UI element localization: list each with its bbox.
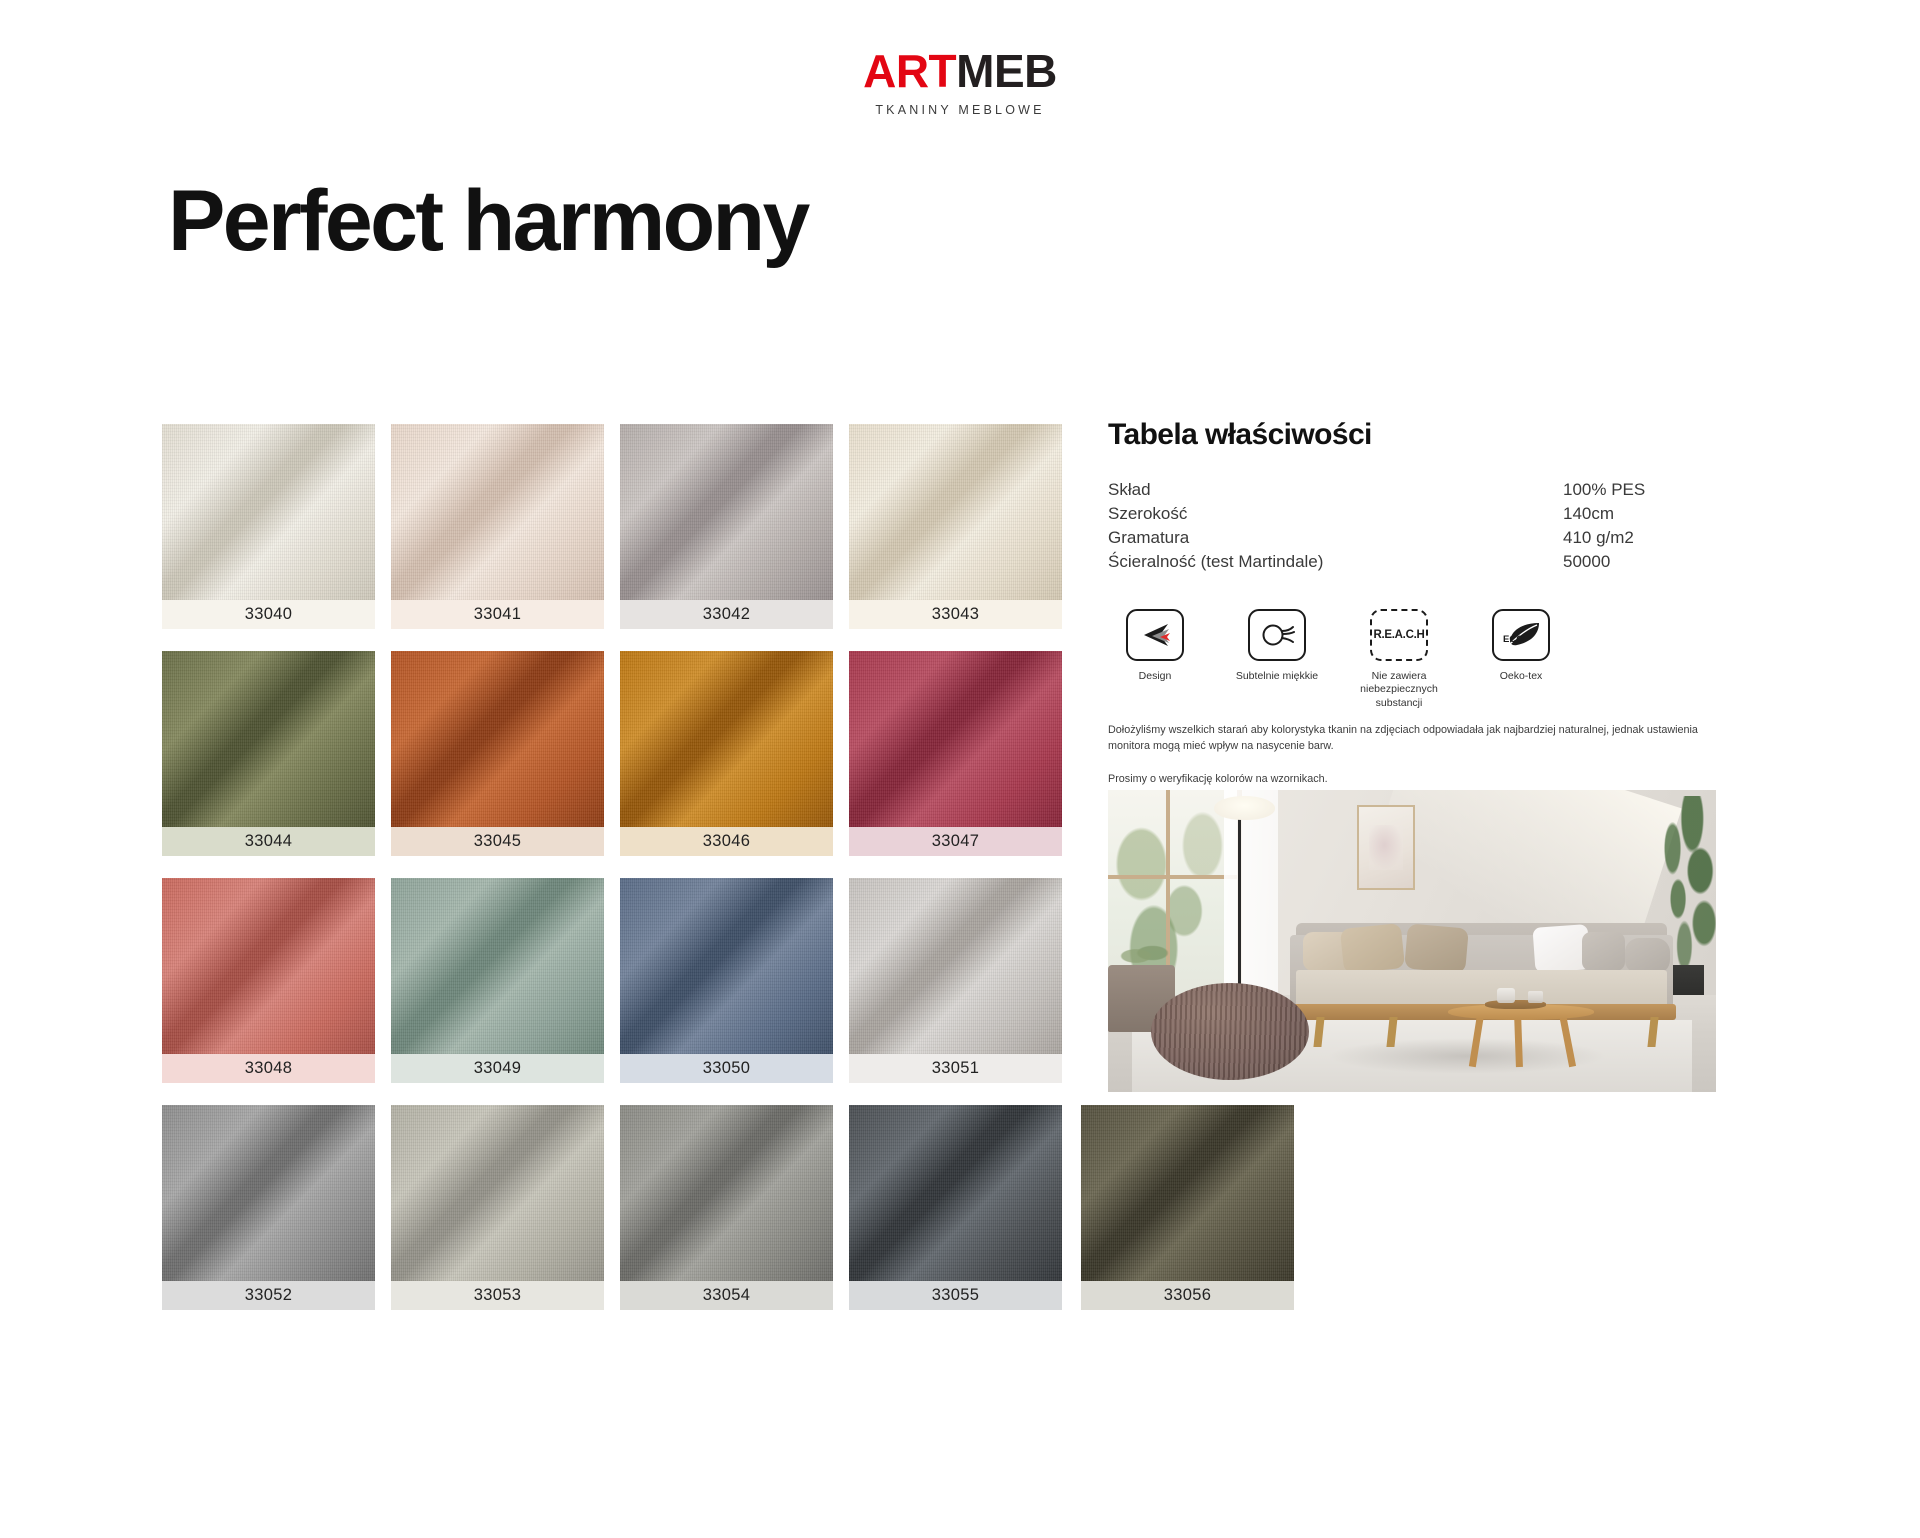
wall-art-frame bbox=[1357, 805, 1415, 890]
fabric-swatch[interactable]: 33042 bbox=[620, 424, 833, 629]
interior-room-photo bbox=[1108, 790, 1716, 1092]
fabric-swatch[interactable]: 33040 bbox=[162, 424, 375, 629]
fabric-swatch[interactable]: 33046 bbox=[620, 651, 833, 856]
feature-icon-caption: Subtelnie miękkie bbox=[1236, 670, 1318, 684]
logo-wordmark: ARTMEB bbox=[0, 48, 1920, 94]
table-vase bbox=[1497, 988, 1515, 1003]
feature-icon-item: Design bbox=[1108, 609, 1202, 712]
property-key: Gramatura bbox=[1108, 526, 1563, 550]
sofa-pillow bbox=[1582, 932, 1625, 971]
swatch-row: 3305233053330543305533056 bbox=[162, 1105, 1072, 1310]
properties-heading: Tabela właściwości bbox=[1108, 418, 1748, 452]
swatch-code-label: 33046 bbox=[620, 827, 833, 856]
swatch-code-label: 33048 bbox=[162, 1054, 375, 1083]
property-row: Gramatura410 g/m2 bbox=[1108, 526, 1748, 550]
property-key: Szerokość bbox=[1108, 502, 1563, 526]
disclaimer-paragraph-2: Prosimy o weryfikację kolorów na wzornik… bbox=[1108, 771, 1728, 787]
table-vase bbox=[1528, 991, 1544, 1003]
color-disclaimer: Dołożyliśmy wszelkich starań aby kolorys… bbox=[1108, 722, 1728, 788]
logo-meb-text: MEB bbox=[956, 45, 1057, 97]
property-value: 140cm bbox=[1563, 502, 1748, 526]
knitted-pouf bbox=[1151, 983, 1309, 1080]
swatch-fabric-image bbox=[162, 1105, 375, 1281]
svg-text:ECO: ECO bbox=[1503, 634, 1524, 645]
swatch-fabric-image bbox=[391, 1105, 604, 1281]
fabric-swatch[interactable]: 33041 bbox=[391, 424, 604, 629]
swatch-fabric-image bbox=[391, 424, 604, 600]
sofa-pillow bbox=[1404, 923, 1469, 973]
swatch-fabric-image bbox=[849, 878, 1062, 1054]
swatch-fabric-image bbox=[849, 424, 1062, 600]
swatch-code-label: 33047 bbox=[849, 827, 1062, 856]
swatch-code-label: 33043 bbox=[849, 600, 1062, 629]
sofa-seat-cushion bbox=[1296, 970, 1667, 1009]
swatch-fabric-image bbox=[849, 1105, 1062, 1281]
fabric-swatch[interactable]: 33052 bbox=[162, 1105, 375, 1310]
properties-panel: Tabela właściwości Skład100% PESSzerokoś… bbox=[1108, 418, 1748, 711]
fabric-swatch[interactable]: 33048 bbox=[162, 878, 375, 1083]
feature-icon-item: Subtelnie miękkie bbox=[1230, 609, 1324, 712]
swatch-fabric-image bbox=[391, 651, 604, 827]
swatch-code-label: 33054 bbox=[620, 1281, 833, 1310]
fabric-swatch[interactable]: 33047 bbox=[849, 651, 1062, 856]
side-table-plant bbox=[1114, 941, 1169, 971]
logo-art-text: ART bbox=[863, 45, 956, 97]
fabric-swatch[interactable]: 33056 bbox=[1081, 1105, 1294, 1310]
swatch-fabric-image bbox=[162, 878, 375, 1054]
swatch-code-label: 33052 bbox=[162, 1281, 375, 1310]
sofa-pillow bbox=[1532, 924, 1590, 973]
feature-icon-caption: Oeko-tex bbox=[1500, 670, 1543, 684]
property-key: Skład bbox=[1108, 478, 1563, 502]
disclaimer-paragraph-1: Dołożyliśmy wszelkich starań aby kolorys… bbox=[1108, 722, 1728, 754]
property-row: Skład100% PES bbox=[1108, 478, 1748, 502]
swatch-row: 33044330453304633047 bbox=[162, 651, 1072, 856]
fabric-swatch[interactable]: 33044 bbox=[162, 651, 375, 856]
fabric-swatch[interactable]: 33053 bbox=[391, 1105, 604, 1310]
swatch-fabric-image bbox=[620, 651, 833, 827]
swatch-code-label: 33044 bbox=[162, 827, 375, 856]
feature-icon-item: R.E.A.C.HNie zawiera niebezpiecznych sub… bbox=[1352, 609, 1446, 712]
swatch-fabric-image bbox=[391, 878, 604, 1054]
fabric-swatch[interactable]: 33050 bbox=[620, 878, 833, 1083]
brand-logo: ARTMEB TKANINY MEBLOWE bbox=[0, 48, 1920, 117]
fabric-swatch[interactable]: 33045 bbox=[391, 651, 604, 856]
swatch-code-label: 33049 bbox=[391, 1054, 604, 1083]
swatch-code-label: 33053 bbox=[391, 1281, 604, 1310]
property-value: 410 g/m2 bbox=[1563, 526, 1748, 550]
reach-icon: R.E.A.C.H bbox=[1370, 609, 1428, 661]
property-value: 100% PES bbox=[1563, 478, 1748, 502]
properties-table: Skład100% PESSzerokość140cmGramatura410 … bbox=[1108, 478, 1748, 575]
oeko-tex-leaf-icon: ECO bbox=[1492, 609, 1550, 661]
swatch-fabric-image bbox=[162, 424, 375, 600]
feature-icon-caption: Design bbox=[1139, 670, 1172, 684]
fabric-swatch[interactable]: 33054 bbox=[620, 1105, 833, 1310]
window-frame-horizontal bbox=[1108, 875, 1242, 879]
swatch-code-label: 33051 bbox=[849, 1054, 1062, 1083]
soft-touch-icon bbox=[1248, 609, 1306, 661]
property-key: Ścieralność (test Martindale) bbox=[1108, 550, 1563, 574]
swatch-code-label: 33042 bbox=[620, 600, 833, 629]
swatch-fabric-image bbox=[620, 878, 833, 1054]
swatch-code-label: 33040 bbox=[162, 600, 375, 629]
swatch-code-label: 33041 bbox=[391, 600, 604, 629]
feature-icon-item: ECOOeko-tex bbox=[1474, 609, 1568, 712]
sofa-pillow bbox=[1340, 923, 1405, 974]
property-value: 50000 bbox=[1563, 550, 1748, 574]
swatch-code-label: 33045 bbox=[391, 827, 604, 856]
swatch-fabric-image bbox=[1081, 1105, 1294, 1281]
floor-lamp-shade bbox=[1214, 796, 1275, 820]
fabric-swatch[interactable]: 33051 bbox=[849, 878, 1062, 1083]
fabric-swatch[interactable]: 33049 bbox=[391, 878, 604, 1083]
page-title: Perfect harmony bbox=[168, 178, 808, 264]
property-row: Ścieralność (test Martindale)50000 bbox=[1108, 550, 1748, 574]
swatch-fabric-image bbox=[620, 424, 833, 600]
swatch-fabric-image bbox=[849, 651, 1062, 827]
swatch-row: 33048330493305033051 bbox=[162, 878, 1072, 1083]
swatch-code-label: 33050 bbox=[620, 1054, 833, 1083]
swatch-row: 33040330413304233043 bbox=[162, 424, 1072, 629]
fabric-swatch[interactable]: 33055 bbox=[849, 1105, 1062, 1310]
swatch-fabric-image bbox=[620, 1105, 833, 1281]
swatch-code-label: 33056 bbox=[1081, 1281, 1294, 1310]
feature-icon-caption: Nie zawiera niebezpiecznych substancji bbox=[1352, 670, 1446, 712]
property-row: Szerokość140cm bbox=[1108, 502, 1748, 526]
swatch-code-label: 33055 bbox=[849, 1281, 1062, 1310]
feature-icon-row: DesignSubtelnie miękkieR.E.A.C.HNie zawi… bbox=[1108, 609, 1748, 712]
swatch-fabric-image bbox=[162, 651, 375, 827]
fabric-swatch[interactable]: 33043 bbox=[849, 424, 1062, 629]
design-icon bbox=[1126, 609, 1184, 661]
sofa-pillow bbox=[1625, 938, 1671, 974]
reach-badge-text: R.E.A.C.H bbox=[1374, 629, 1425, 641]
fabric-swatch-grid: 3304033041330423304333044330453304633047… bbox=[162, 424, 1072, 1332]
logo-tagline: TKANINY MEBLOWE bbox=[0, 103, 1920, 117]
